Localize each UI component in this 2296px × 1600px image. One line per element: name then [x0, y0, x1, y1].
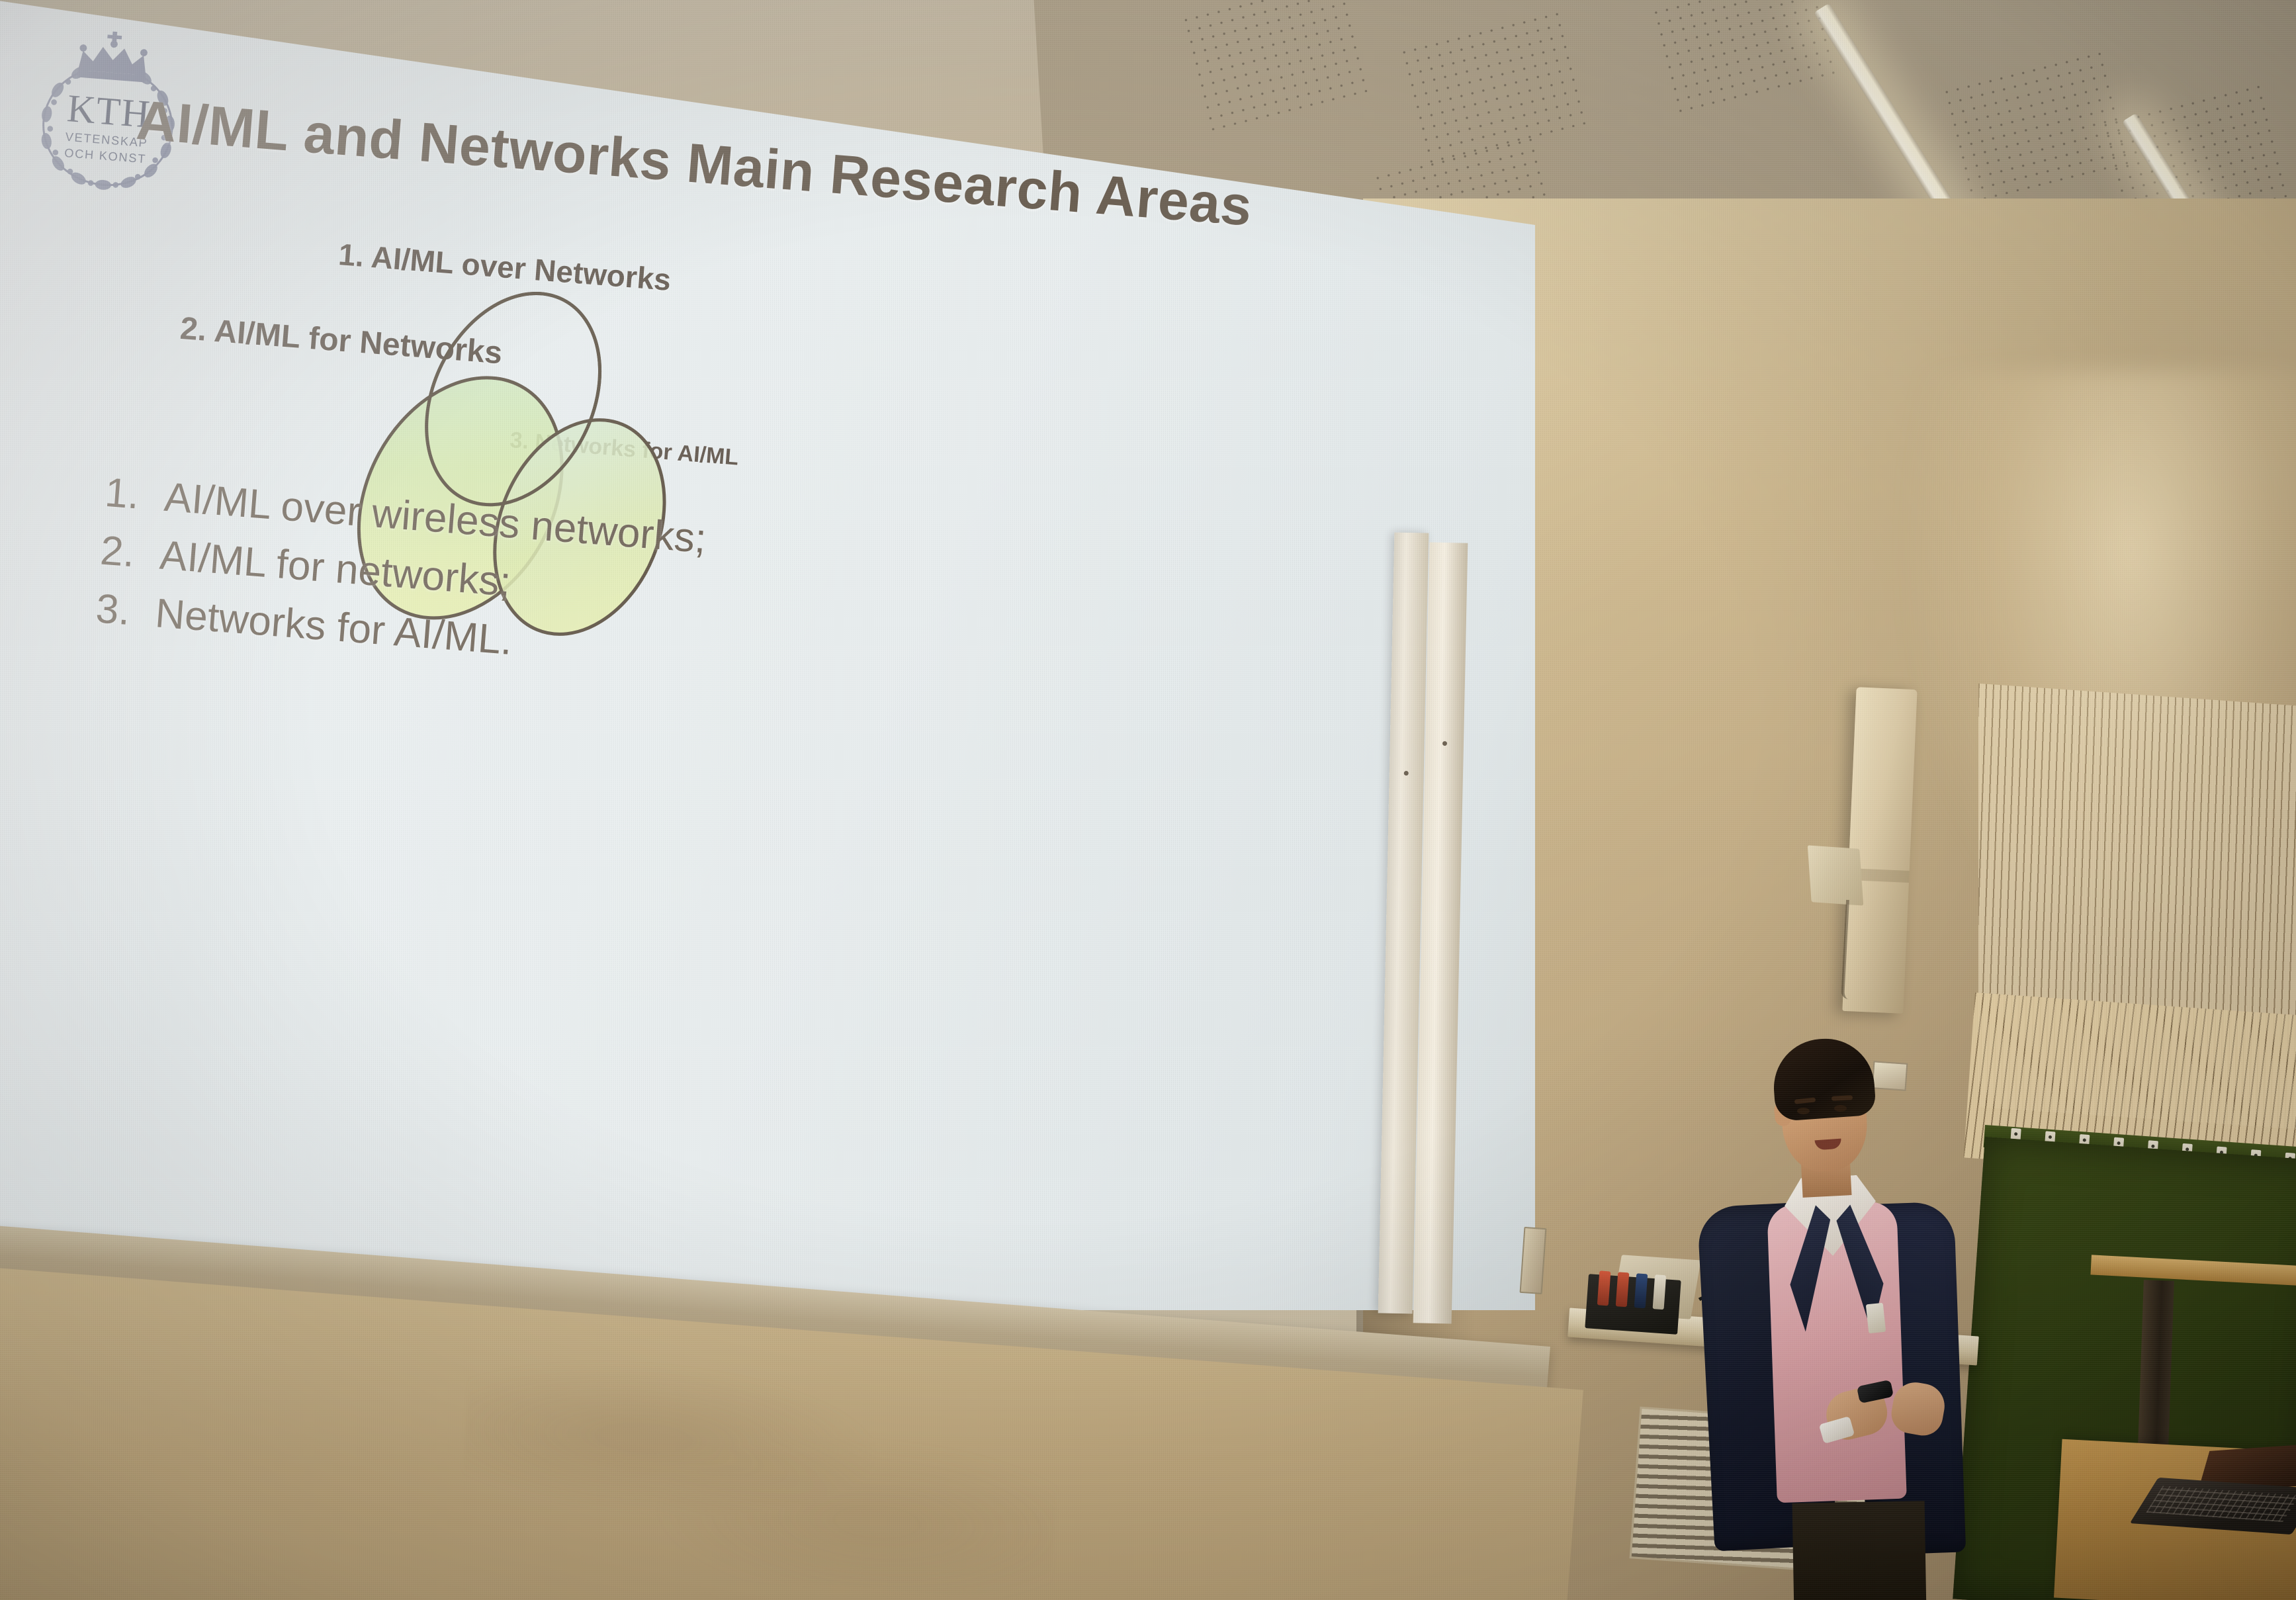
laptop-keys: [2146, 1486, 2296, 1522]
column-fixing-dot: [1442, 741, 1447, 746]
eye-right: [1834, 1105, 1847, 1112]
desk-leg: [2137, 1280, 2174, 1466]
list-item-number: 2.: [99, 522, 135, 582]
eye-left: [1797, 1108, 1810, 1114]
hair: [1771, 1036, 1877, 1122]
lecture-hall-photo: KTH VETENSKAP OCH KONST AI/ML and Networ…: [0, 0, 2296, 1600]
wall-scuff-marks: [456, 1336, 1066, 1600]
wall-socket-plate[interactable]: [1520, 1227, 1547, 1294]
crown-icon: [77, 29, 149, 83]
trousers: [1792, 1501, 1927, 1600]
presenter: [1694, 1039, 1978, 1600]
column-fixing-dot: [1404, 771, 1409, 776]
marker-red: [1597, 1270, 1611, 1306]
marker-red-2: [1616, 1272, 1630, 1307]
name-badge: [1866, 1303, 1886, 1333]
list-item-number: 1.: [103, 464, 139, 524]
list-item-number: 3.: [94, 580, 130, 640]
marker-white: [1653, 1274, 1667, 1310]
marker-tray: [1585, 1274, 1681, 1335]
marker-blue: [1634, 1273, 1648, 1308]
speaker-mount-bracket: [1808, 845, 1864, 905]
